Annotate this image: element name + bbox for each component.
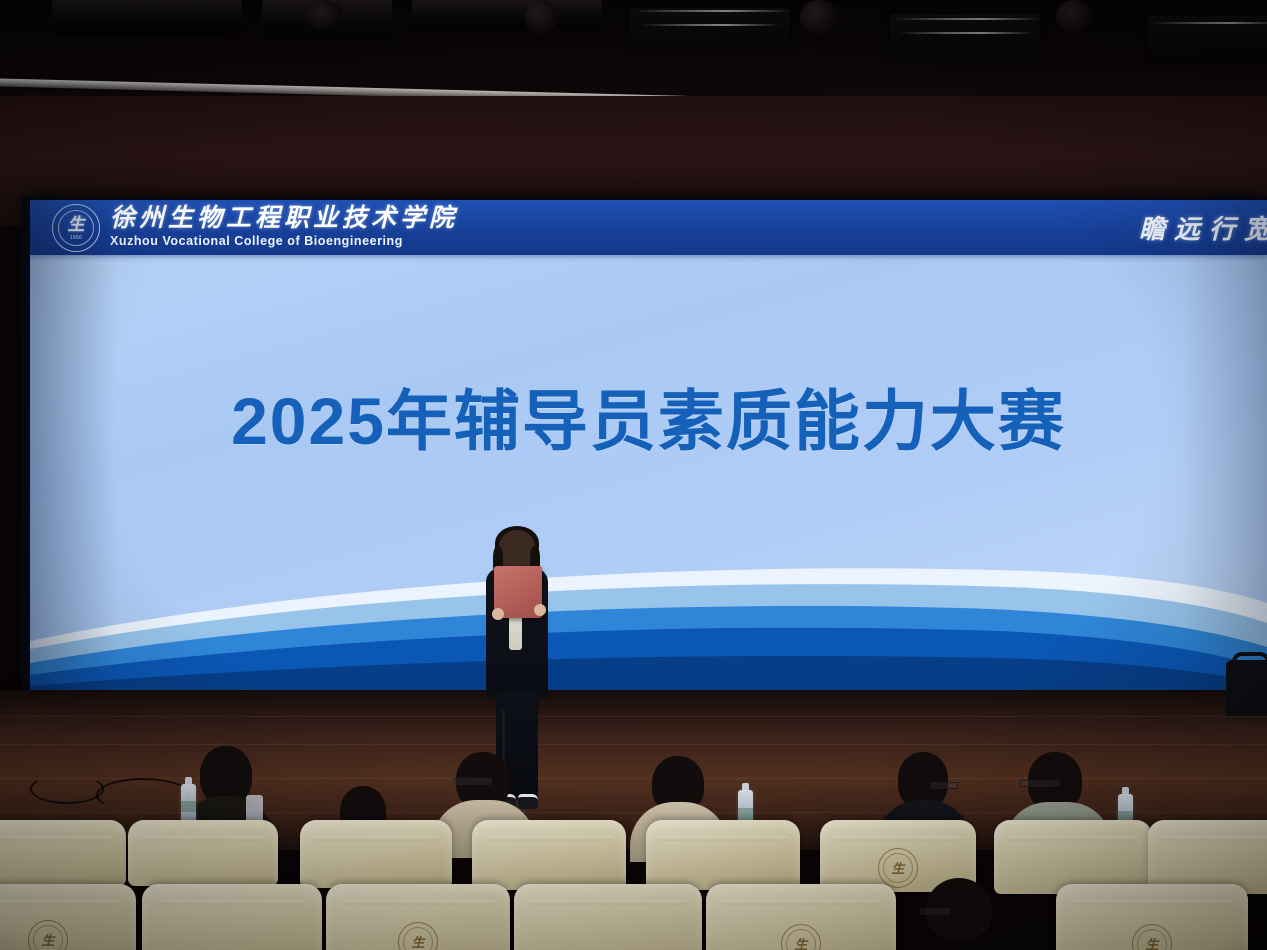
audience-glasses: [454, 778, 492, 785]
seat-emblem-mark: 生: [41, 930, 54, 949]
light-glint: [640, 24, 780, 26]
seat: [300, 820, 452, 888]
presentation-slide: 生 1956 徐州生物工程职业技术学院 Xuzhou Vocational Co…: [30, 200, 1267, 695]
light-glint: [898, 32, 1034, 34]
seat-emblem-mark: 生: [891, 858, 904, 877]
seat-emblem-icon: 生: [28, 920, 68, 950]
seat: [128, 820, 278, 886]
seat-emblem-icon: 生: [1132, 924, 1172, 950]
round-light: [306, 0, 342, 30]
seat-emblem-mark: 生: [794, 934, 807, 950]
seat-emblem-mark: 生: [1145, 934, 1158, 950]
light-glint: [1152, 22, 1267, 24]
audience-phone: [246, 795, 263, 822]
seat-emblem-icon: 生: [878, 848, 918, 888]
slide-swoosh-graphic: [30, 545, 1267, 695]
light-glint: [634, 10, 790, 12]
school-name-en: Xuzhou Vocational College of Bioengineer…: [110, 233, 458, 249]
seat-emblem-icon: 生: [398, 922, 438, 950]
slide-header-band: 生 1956 徐州生物工程职业技术学院 Xuzhou Vocational Co…: [30, 200, 1267, 255]
seat: [472, 820, 626, 890]
audience-glasses: [930, 782, 958, 789]
seat: 生: [0, 884, 136, 950]
round-light: [800, 0, 838, 34]
seat-emblem-icon: 生: [781, 924, 821, 950]
audience-area: 生 生 生 生: [0, 735, 1267, 950]
light-glint: [894, 18, 1040, 20]
audience-glasses: [1020, 780, 1060, 787]
round-light: [524, 0, 558, 34]
bottle-label: [181, 801, 196, 812]
seat-emblem-mark: 生: [411, 932, 424, 950]
seat: [514, 884, 702, 950]
seal-mark: 生: [68, 216, 85, 233]
school-seal-icon: 生 1956: [52, 204, 100, 252]
stage-light-rig: [52, 0, 242, 34]
bottle-label: [738, 808, 753, 820]
slide-title: 2025年辅导员素质能力大赛: [30, 368, 1267, 464]
stage-chair-arm: [1232, 652, 1267, 668]
seat: 生: [1056, 884, 1248, 950]
seat: 生: [326, 884, 510, 950]
audience-glasses: [920, 908, 950, 915]
presenter-hand: [534, 604, 546, 616]
stage-light-rig: [412, 0, 602, 30]
stage-chair-silhouette: [1226, 660, 1267, 716]
seat: [1148, 820, 1267, 894]
school-name-block: 徐州生物工程职业技术学院 Xuzhou Vocational College o…: [110, 206, 458, 250]
presenter-hand: [492, 608, 504, 620]
school-name-cn: 徐州生物工程职业技术学院: [110, 206, 458, 232]
led-screen: 生 1956 徐州生物工程职业技术学院 Xuzhou Vocational Co…: [30, 200, 1267, 695]
seat: [0, 820, 126, 886]
school-motto-calligraphy: 瞻远行宽: [1139, 209, 1267, 246]
floor-plank: [0, 716, 1267, 717]
audience-person: [916, 878, 1002, 950]
seat: 生: [706, 884, 896, 950]
seat: [994, 820, 1152, 894]
round-light: [1056, 0, 1092, 32]
seal-year: 1956: [53, 235, 99, 241]
speaker-box: [630, 8, 790, 50]
seat: [142, 884, 322, 950]
seat: [646, 820, 800, 890]
speaker-box: [890, 14, 1040, 60]
slide-header-left: 生 1956 徐州生物工程职业技术学院 Xuzhou Vocational Co…: [30, 204, 1139, 252]
auditorium-photo: 生 1956 徐州生物工程职业技术学院 Xuzhou Vocational Co…: [0, 0, 1267, 950]
